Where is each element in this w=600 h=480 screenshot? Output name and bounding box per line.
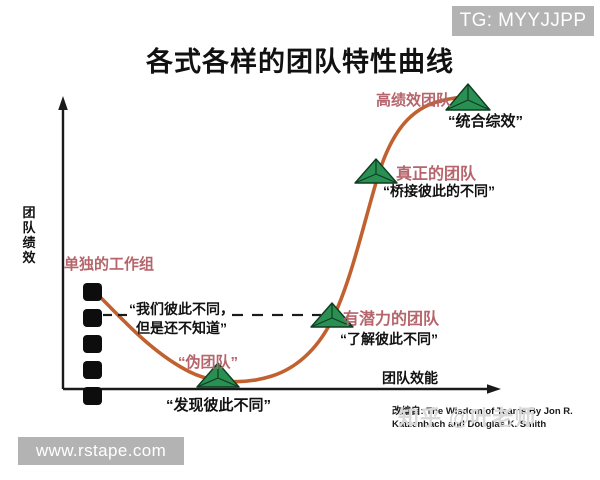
group-square — [83, 387, 102, 405]
group-square — [83, 335, 102, 353]
zhihu-watermark: 知乎 @叶老师 — [398, 402, 536, 432]
quote-understand-differences: “了解彼此不同” — [340, 329, 438, 349]
group-square — [83, 283, 102, 301]
telegram-watermark: TG: MYYJJPP — [452, 6, 594, 36]
label-pseudo-team: “伪团队” — [178, 351, 238, 372]
working-group-squares — [83, 283, 102, 405]
quote-synergy: “统合综效” — [448, 110, 523, 131]
quote-line-2: 但是还不知道” — [129, 319, 234, 338]
quote-we-are-different: “我们彼此不同， 但是还不知道” — [129, 300, 234, 338]
label-working-group: 单独的工作组 — [64, 253, 154, 274]
pyramid-marker-real-team — [355, 159, 397, 183]
group-square — [83, 361, 102, 379]
label-potential-team: 有潜力的团队 — [343, 305, 439, 329]
site-watermark: www.rstape.com — [18, 437, 184, 465]
chart-canvas: 各式各样的团队特性曲线 团队绩效 团队效能 — [0, 0, 600, 480]
quote-bridge-differences: “桥接彼此的不同” — [383, 181, 495, 201]
group-square — [83, 309, 102, 327]
quote-line-1: “我们彼此不同， — [129, 300, 234, 319]
quote-discover-differences: “发现彼此不同” — [166, 394, 271, 415]
label-high-performance-team: 高绩效团队 — [376, 89, 451, 110]
